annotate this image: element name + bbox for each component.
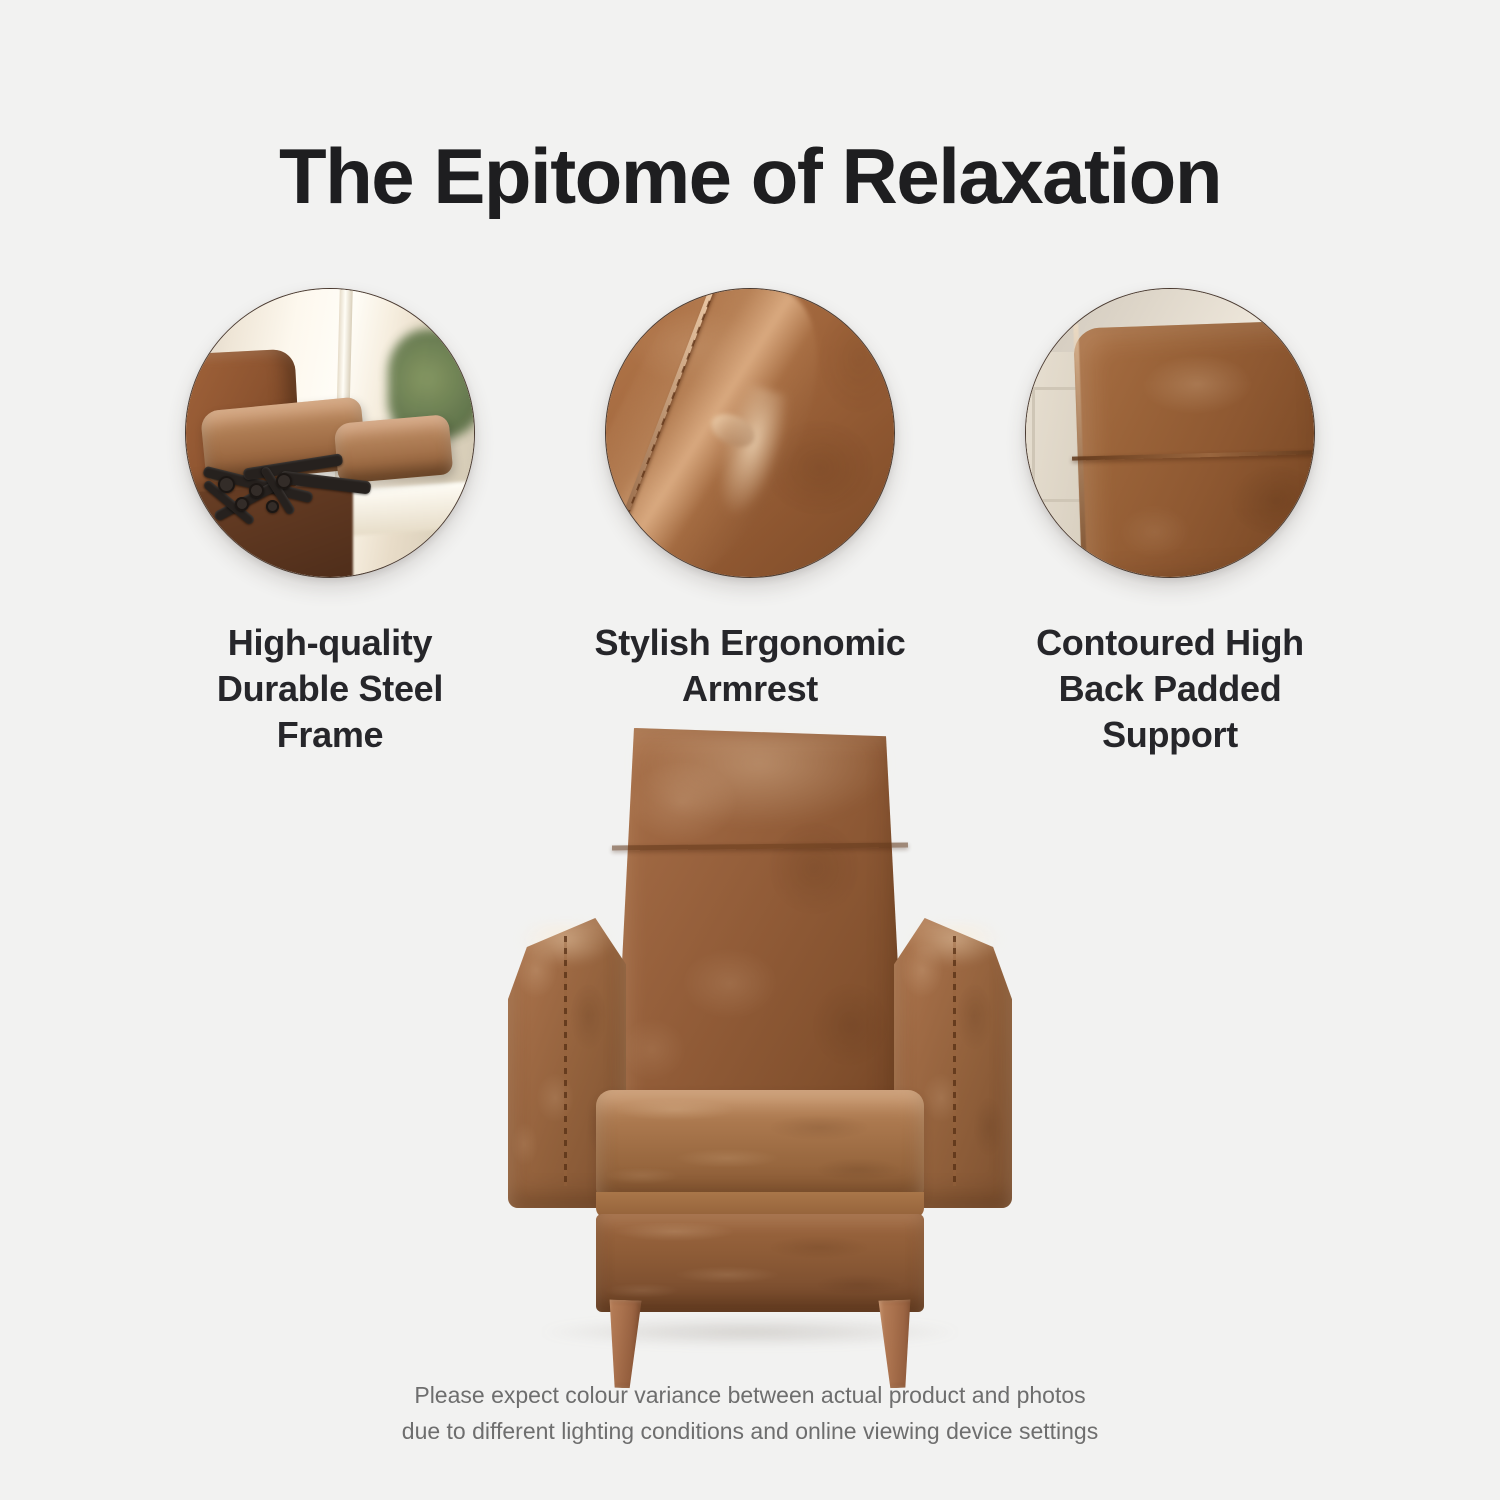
feature-image-steel-frame xyxy=(185,288,475,578)
chair-base xyxy=(596,1214,924,1312)
chair-seat-cushion xyxy=(596,1090,924,1200)
feature-image-high-back xyxy=(1025,288,1315,578)
feature-item-steel-frame: High-quality Durable Steel Frame xyxy=(180,288,480,758)
arm-seam-left xyxy=(564,936,567,1186)
disclaimer-line-1: Please expect colour variance between ac… xyxy=(0,1378,1500,1414)
arm-seam-right xyxy=(953,936,956,1186)
feature-label-armrest: Stylish Ergonomic Armrest xyxy=(585,620,915,712)
feature-item-high-back: Contoured High Back Padded Support xyxy=(1020,288,1320,758)
hero-product-image xyxy=(0,722,1500,1342)
page-title: The Epitome of Relaxation xyxy=(0,136,1500,218)
steel-mechanism-icon xyxy=(198,453,405,528)
feature-image-armrest xyxy=(605,288,895,578)
recliner-chair xyxy=(500,722,1020,1342)
feature-item-armrest: Stylish Ergonomic Armrest xyxy=(600,288,900,758)
colour-variance-disclaimer: Please expect colour variance between ac… xyxy=(0,1378,1500,1449)
feature-highlights-row: High-quality Durable Steel Frame Stylish… xyxy=(0,288,1500,758)
disclaimer-line-2: due to different lighting conditions and… xyxy=(0,1414,1500,1450)
